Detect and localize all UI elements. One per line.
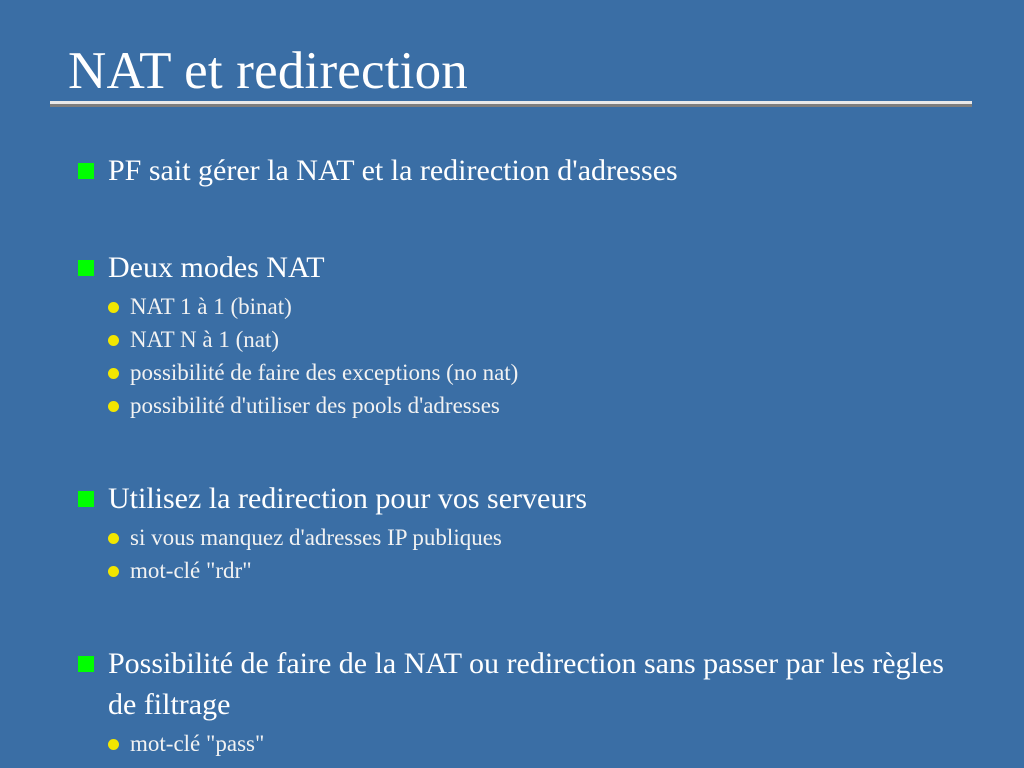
bullet-level1-label: Deux modes NAT bbox=[108, 251, 325, 284]
page-title: NAT et redirection bbox=[50, 44, 972, 98]
bullet-group: PF sait gérer la NAT et la redirection d… bbox=[0, 150, 1024, 191]
bullet-level2-label: mot-clé "rdr" bbox=[130, 558, 252, 583]
bullet-level2: NAT 1 à 1 (binat) bbox=[0, 290, 1024, 323]
green-square-bullet-icon bbox=[78, 656, 94, 672]
bullet-level2: si vous manquez d'adresses IP publiques bbox=[0, 521, 1024, 554]
bullet-level1: Possibilité de faire de la NAT ou redire… bbox=[0, 643, 1024, 725]
title-block: NAT et redirection bbox=[50, 44, 972, 104]
green-square-bullet-icon bbox=[78, 163, 94, 179]
yellow-dot-bullet-icon bbox=[108, 566, 119, 577]
yellow-dot-bullet-icon bbox=[108, 302, 119, 313]
bullet-level2-label: si vous manquez d'adresses IP publiques bbox=[130, 525, 502, 550]
bullet-level1-label: PF sait gérer la NAT et la redirection d… bbox=[108, 154, 678, 187]
yellow-dot-bullet-icon bbox=[108, 368, 119, 379]
bullet-level2-label: possibilité d'utiliser des pools d'adres… bbox=[130, 393, 500, 418]
bullet-level1-label: Possibilité de faire de la NAT ou redire… bbox=[108, 647, 944, 721]
bullet-level2-label: NAT 1 à 1 (binat) bbox=[130, 294, 292, 319]
slide-canvas: NAT et redirection PF sait gérer la NAT … bbox=[0, 0, 1024, 768]
bullet-level1-label: Utilisez la redirection pour vos serveur… bbox=[108, 482, 587, 515]
bullet-level1: Utilisez la redirection pour vos serveur… bbox=[0, 478, 1024, 519]
bullet-level2: mot-clé "pass" bbox=[0, 727, 1024, 760]
bullet-level2-list: si vous manquez d'adresses IP publiques … bbox=[0, 521, 1024, 587]
bullet-group: Deux modes NAT NAT 1 à 1 (binat) NAT N à… bbox=[0, 247, 1024, 422]
bullet-level2-label: NAT N à 1 (nat) bbox=[130, 327, 279, 352]
yellow-dot-bullet-icon bbox=[108, 739, 119, 750]
yellow-dot-bullet-icon bbox=[108, 335, 119, 346]
bullet-level1: Deux modes NAT bbox=[0, 247, 1024, 288]
yellow-dot-bullet-icon bbox=[108, 533, 119, 544]
bullet-level2-list: mot-clé "pass" bbox=[0, 727, 1024, 760]
bullet-level2: mot-clé "rdr" bbox=[0, 554, 1024, 587]
bullet-level2-label: mot-clé "pass" bbox=[130, 731, 264, 756]
bullet-level2-label: possibilité de faire des exceptions (no … bbox=[130, 360, 518, 385]
green-square-bullet-icon bbox=[78, 260, 94, 276]
bullet-level2: possibilité de faire des exceptions (no … bbox=[0, 356, 1024, 389]
bullet-level2: NAT N à 1 (nat) bbox=[0, 323, 1024, 356]
bullet-level2: possibilité d'utiliser des pools d'adres… bbox=[0, 389, 1024, 422]
bullet-level2-list: NAT 1 à 1 (binat) NAT N à 1 (nat) possib… bbox=[0, 290, 1024, 422]
bullet-level1: PF sait gérer la NAT et la redirection d… bbox=[0, 150, 1024, 191]
slide-body-content: PF sait gérer la NAT et la redirection d… bbox=[0, 150, 1024, 760]
green-square-bullet-icon bbox=[78, 491, 94, 507]
bullet-group: Possibilité de faire de la NAT ou redire… bbox=[0, 643, 1024, 760]
yellow-dot-bullet-icon bbox=[108, 401, 119, 412]
bullet-group: Utilisez la redirection pour vos serveur… bbox=[0, 478, 1024, 587]
title-underline-rule bbox=[50, 101, 972, 104]
